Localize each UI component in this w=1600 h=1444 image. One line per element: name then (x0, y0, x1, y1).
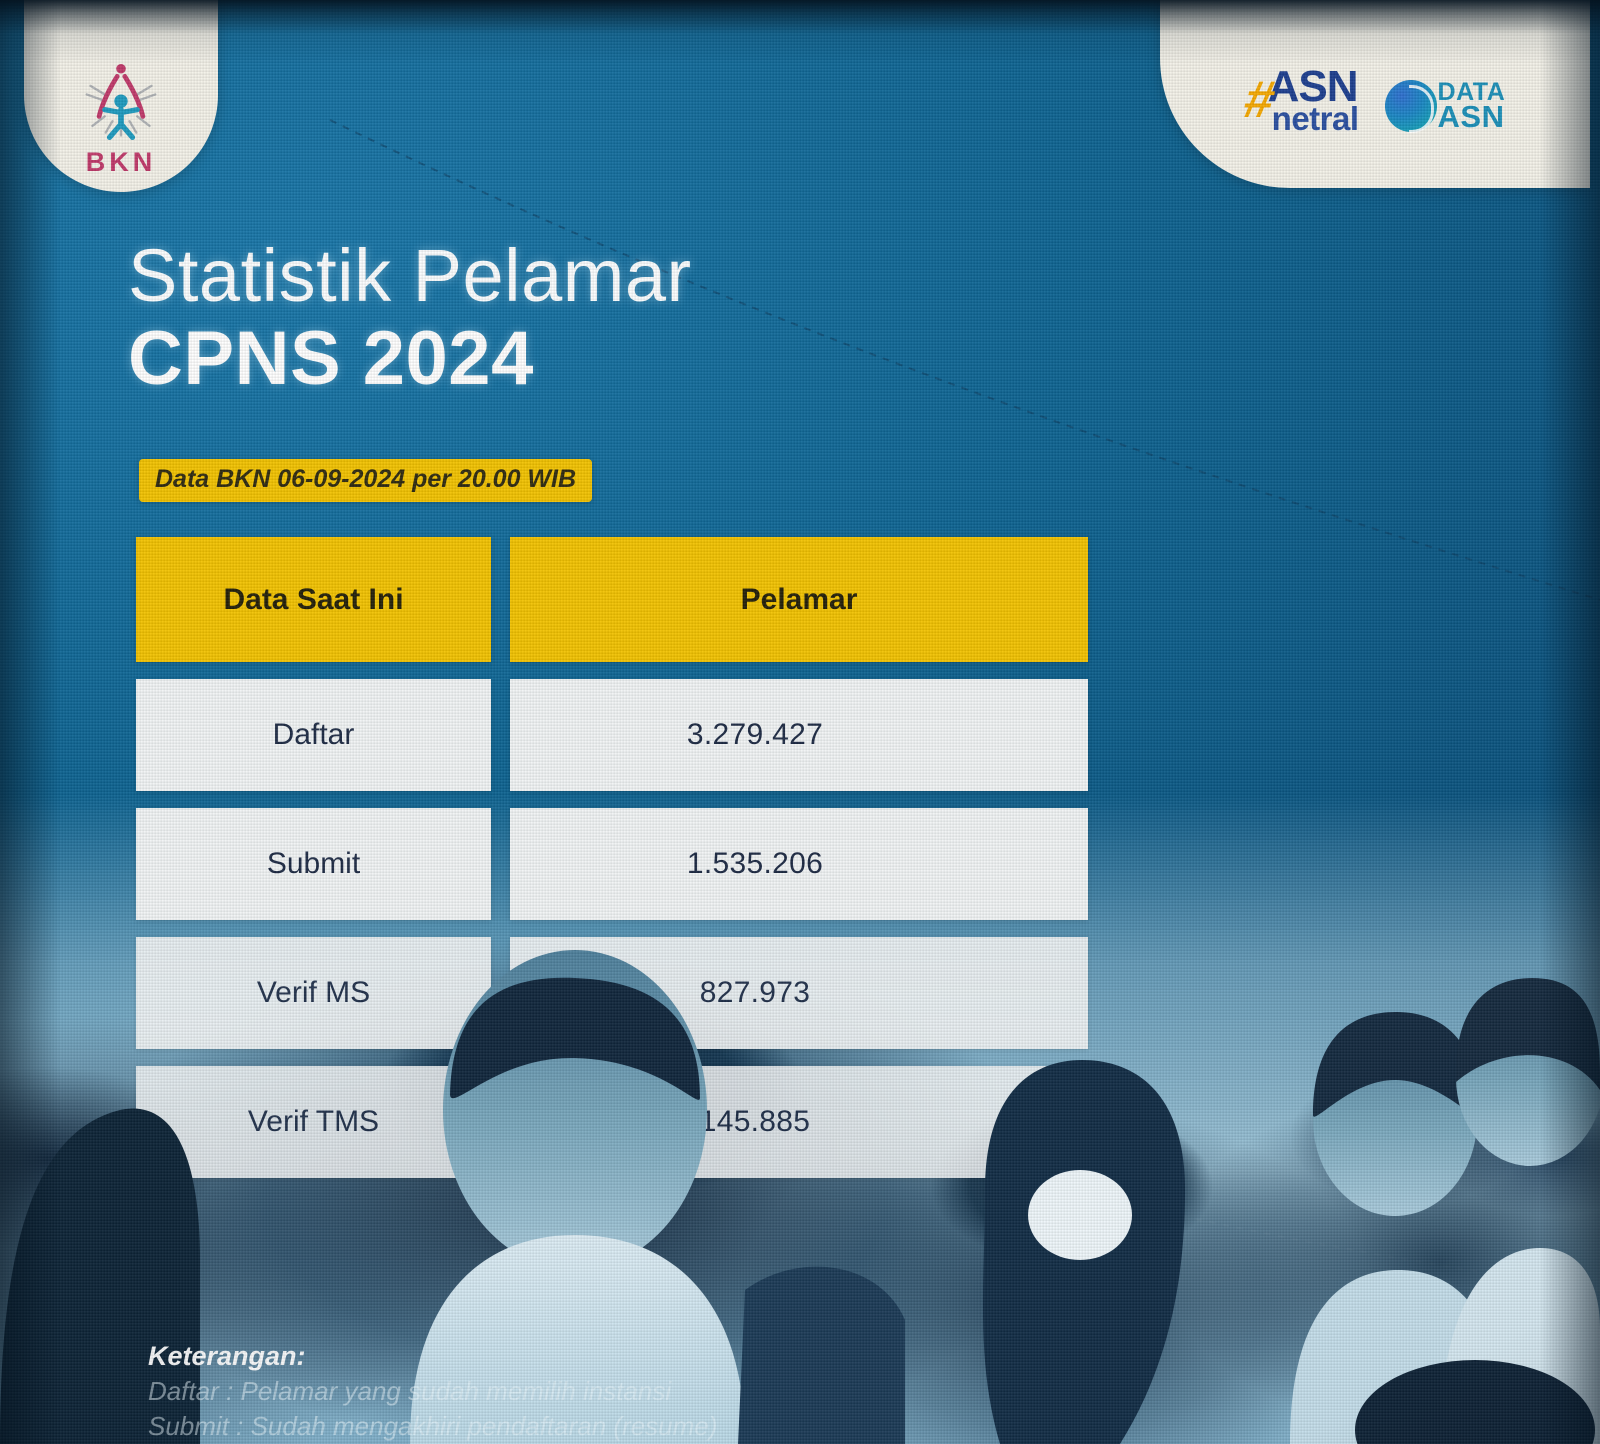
data-asn-line2: ASN (1438, 103, 1506, 130)
row-value-submit: 1.535.206 (510, 808, 1088, 920)
table-header-data-saat-ini: Data Saat Ini (136, 537, 491, 662)
bkn-wordmark-suffix: N (133, 147, 157, 177)
asn-netral-line2: netral (1272, 105, 1359, 132)
keterangan-title: Keterangan: (148, 1338, 1048, 1374)
keterangan-line-2: Submit : Sudah mengakhiri pendaftaran (r… (148, 1409, 1048, 1444)
globe-icon (1385, 80, 1437, 132)
data-timestamp-badge: Data BKN 06-09-2024 per 20.00 WIB (139, 459, 592, 502)
row-value-verif-ms: 827.973 (510, 937, 1088, 1049)
asn-netral-logo: # ASN netral (1245, 69, 1359, 132)
bkn-wordmark: BKN (86, 147, 157, 178)
page-title: Statistik Pelamar CPNS 2024 (128, 238, 692, 399)
table-row: Submit 1.535.206 (136, 808, 1088, 920)
bkn-wordmark-prefix: BK (86, 147, 133, 177)
value-text: 1.535.206 (687, 847, 823, 881)
table-row: Verif TMS 145.885 (136, 1066, 1088, 1178)
row-label-daftar: Daftar (136, 679, 491, 791)
table-row: Verif MS 827.973 (136, 937, 1088, 1049)
value-text: 3.279.427 (687, 718, 823, 752)
table-header-row: Data Saat Ini Pelamar (136, 537, 1088, 662)
statistics-table: Data Saat Ini Pelamar Daftar 3.279.427 S… (136, 537, 1088, 1195)
row-label-verif-ms: Verif MS (136, 937, 491, 1049)
bkn-logo-badge: BKN (24, 0, 218, 192)
table-row: Daftar 3.279.427 (136, 679, 1088, 791)
keterangan-line-1: Daftar : Pelamar yang sudah memilih inst… (148, 1374, 1048, 1409)
value-text: 827.973 (700, 976, 811, 1010)
value-text: 145.885 (700, 1105, 811, 1139)
row-label-submit: Submit (136, 808, 491, 920)
data-asn-logo: DATA ASN (1385, 80, 1506, 132)
row-value-verif-tms: 145.885 (510, 1066, 1088, 1178)
title-line-2: CPNS 2024 (128, 319, 692, 398)
row-value-daftar: 3.279.427 (510, 679, 1088, 791)
title-line-1: Statistik Pelamar (128, 238, 692, 313)
slide-photo-screenshot: BKN # ASN netral DATA ASN Statistik Pela… (0, 0, 1600, 1444)
asn-logos-badge: # ASN netral DATA ASN (1160, 0, 1590, 188)
table-header-pelamar: Pelamar (510, 537, 1088, 662)
bkn-emblem-icon (73, 63, 169, 145)
keterangan-footnote: Keterangan: Daftar : Pelamar yang sudah … (148, 1338, 1048, 1444)
row-label-verif-tms: Verif TMS (136, 1066, 491, 1178)
